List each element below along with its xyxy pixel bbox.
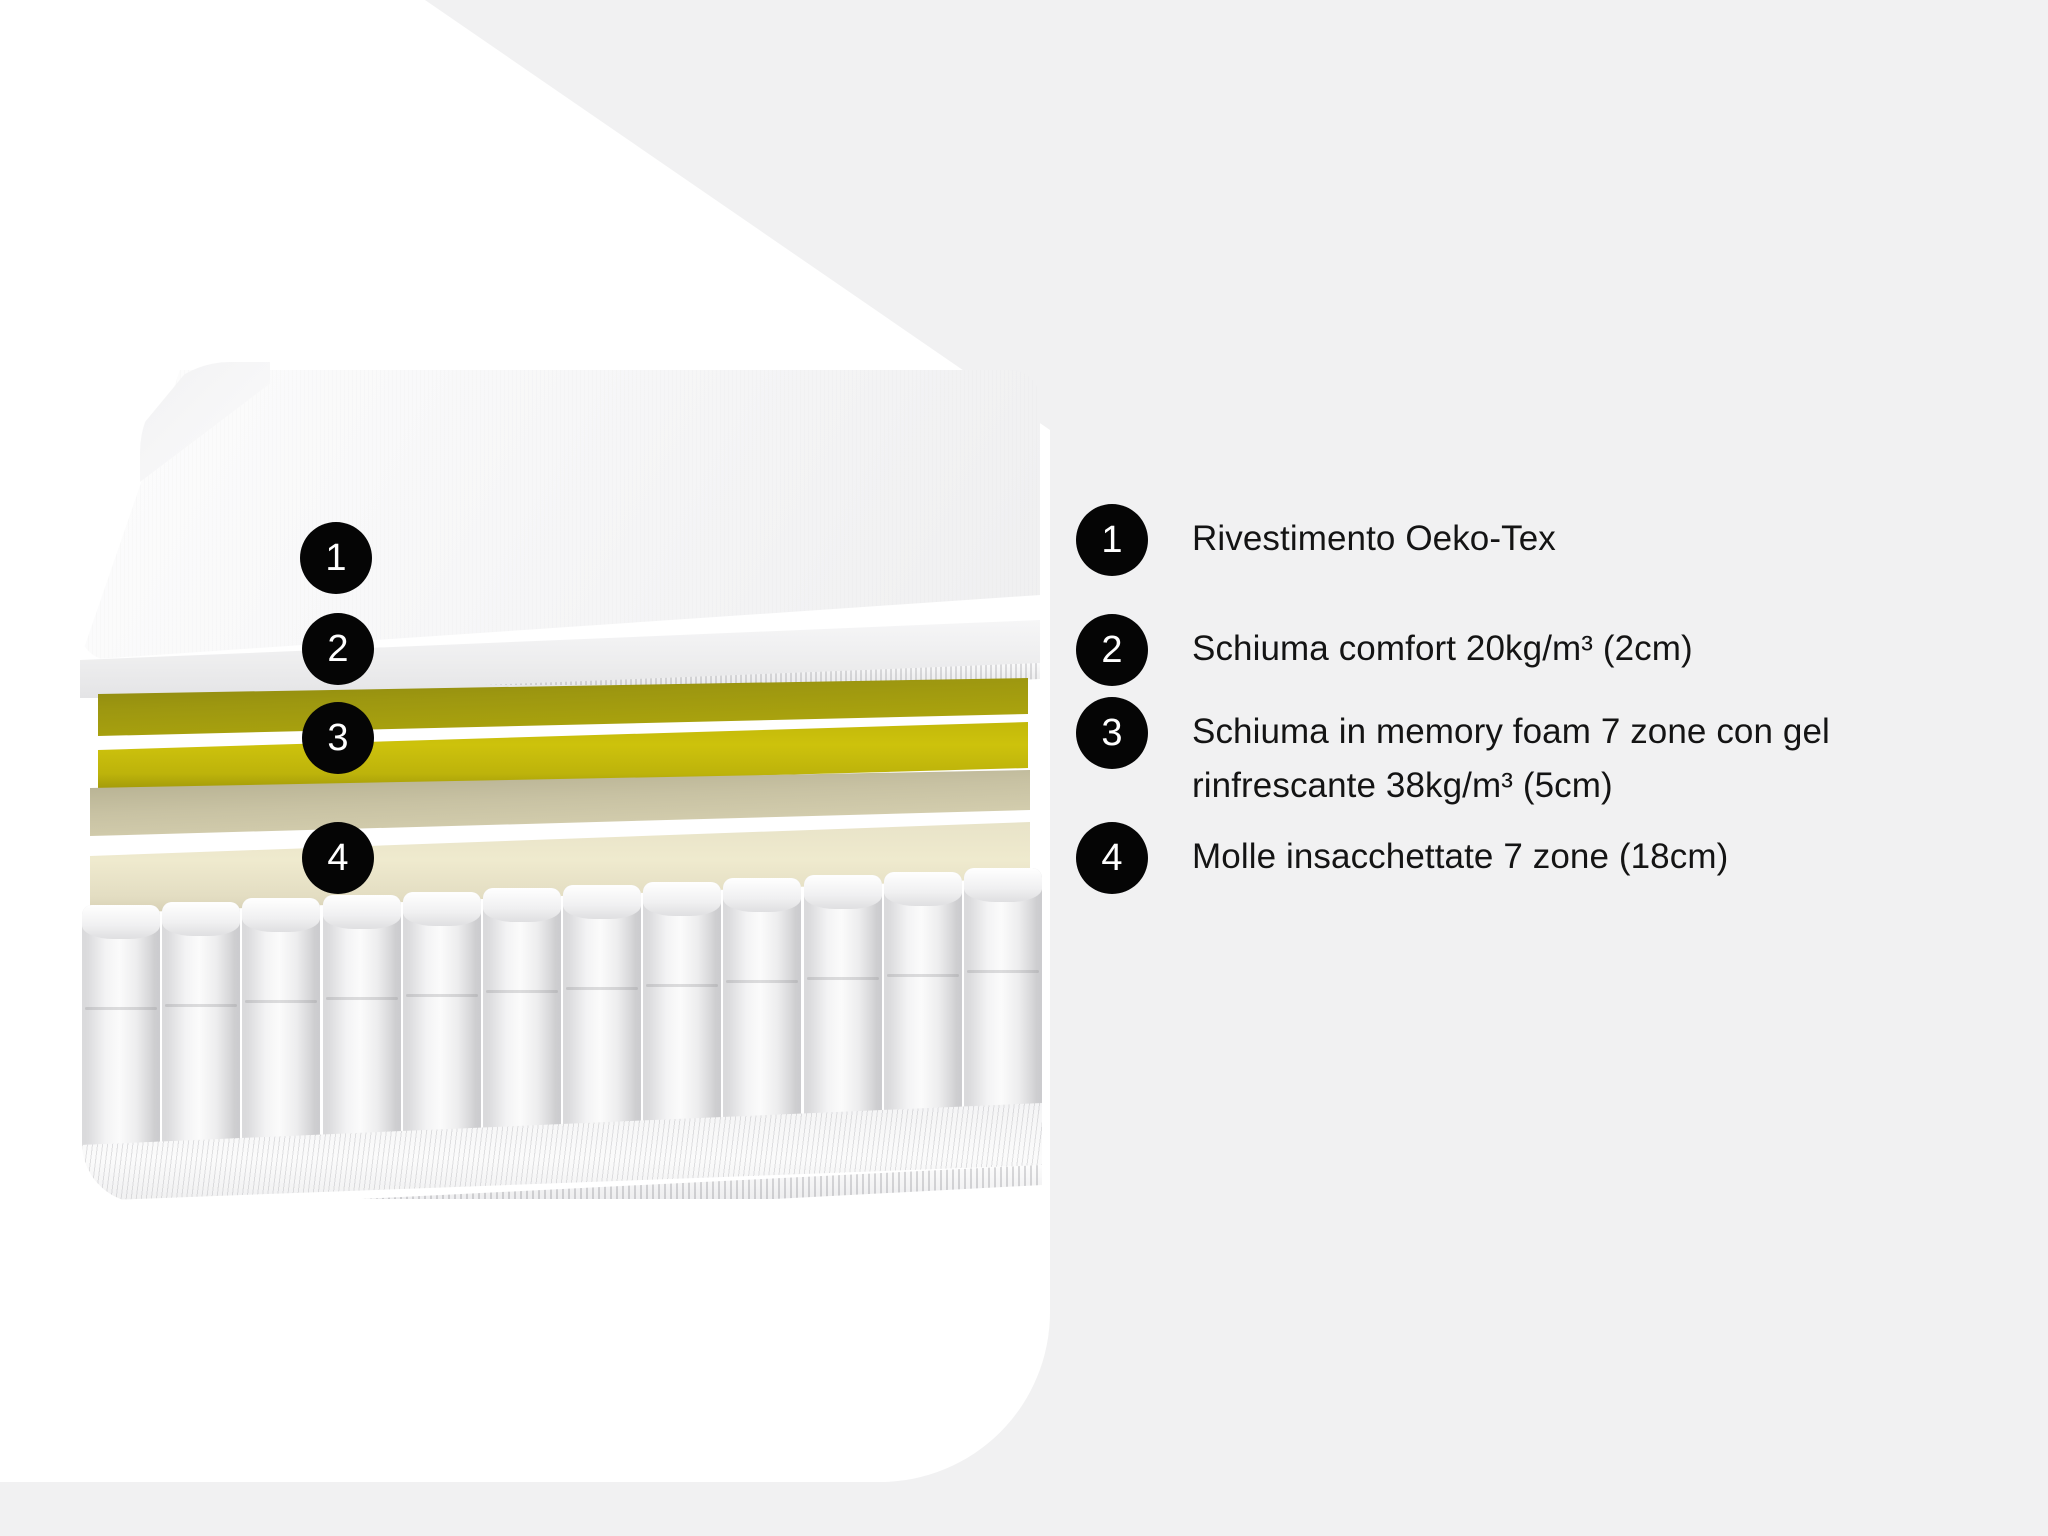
mattress-layer-pocket-springs — [82, 865, 1042, 1195]
pocket-spring — [723, 878, 801, 1133]
pocket-spring-row — [82, 865, 1042, 1145]
legend-item-4[interactable]: 4 Molle insacchettate 7 zone (18cm) — [1076, 822, 1728, 894]
pocket-spring — [323, 895, 401, 1150]
legend-label-2-line-1: Schiuma comfort 20kg/m³ (2cm) — [1192, 622, 1693, 676]
pocket-spring — [884, 872, 962, 1127]
legend-badge-3: 3 — [1076, 697, 1148, 769]
legend-badge-2: 2 — [1076, 614, 1148, 686]
legend-label-4: Molle insacchettate 7 zone (18cm) — [1192, 822, 1728, 884]
pocket-spring — [563, 885, 641, 1140]
callout-badge-1[interactable]: 1 — [300, 522, 372, 594]
legend-label-4-line-1: Molle insacchettate 7 zone (18cm) — [1192, 830, 1728, 884]
callout-badge-3[interactable]: 3 — [302, 702, 374, 774]
legend-badge-1: 1 — [1076, 504, 1148, 576]
mattress-layer-cover — [80, 370, 1040, 710]
legend-badge-4: 4 — [1076, 822, 1148, 894]
pocket-spring — [162, 902, 240, 1157]
legend-label-3: Schiuma in memory foam 7 zone con gel ri… — [1192, 697, 1830, 813]
legend-item-3[interactable]: 3 Schiuma in memory foam 7 zone con gel … — [1076, 697, 1830, 813]
legend-label-3-line-1: Schiuma in memory foam 7 zone con gel — [1192, 705, 1830, 759]
callout-badge-2[interactable]: 2 — [302, 613, 374, 685]
pocket-spring — [804, 875, 882, 1130]
pocket-spring — [403, 892, 481, 1147]
pocket-spring — [82, 905, 160, 1160]
mattress-cutaway-illustration: 1 2 3 4 — [80, 370, 1080, 1380]
pocket-spring — [964, 868, 1042, 1123]
callout-badge-4[interactable]: 4 — [302, 822, 374, 894]
legend-label-3-line-2: rinfrescante 38kg/m³ (5cm) — [1192, 759, 1830, 813]
pocket-spring — [483, 888, 561, 1143]
legend-label-1: Rivestimento Oeko-Tex — [1192, 504, 1556, 566]
legend-item-2[interactable]: 2 Schiuma comfort 20kg/m³ (2cm) — [1076, 614, 1693, 686]
legend-item-1[interactable]: 1 Rivestimento Oeko-Tex — [1076, 504, 1556, 576]
legend-label-1-line-1: Rivestimento Oeko-Tex — [1192, 512, 1556, 566]
pocket-spring — [242, 898, 320, 1153]
pocket-spring — [643, 882, 721, 1137]
legend-label-2: Schiuma comfort 20kg/m³ (2cm) — [1192, 614, 1693, 676]
memory-foam-top-face — [90, 770, 1030, 836]
